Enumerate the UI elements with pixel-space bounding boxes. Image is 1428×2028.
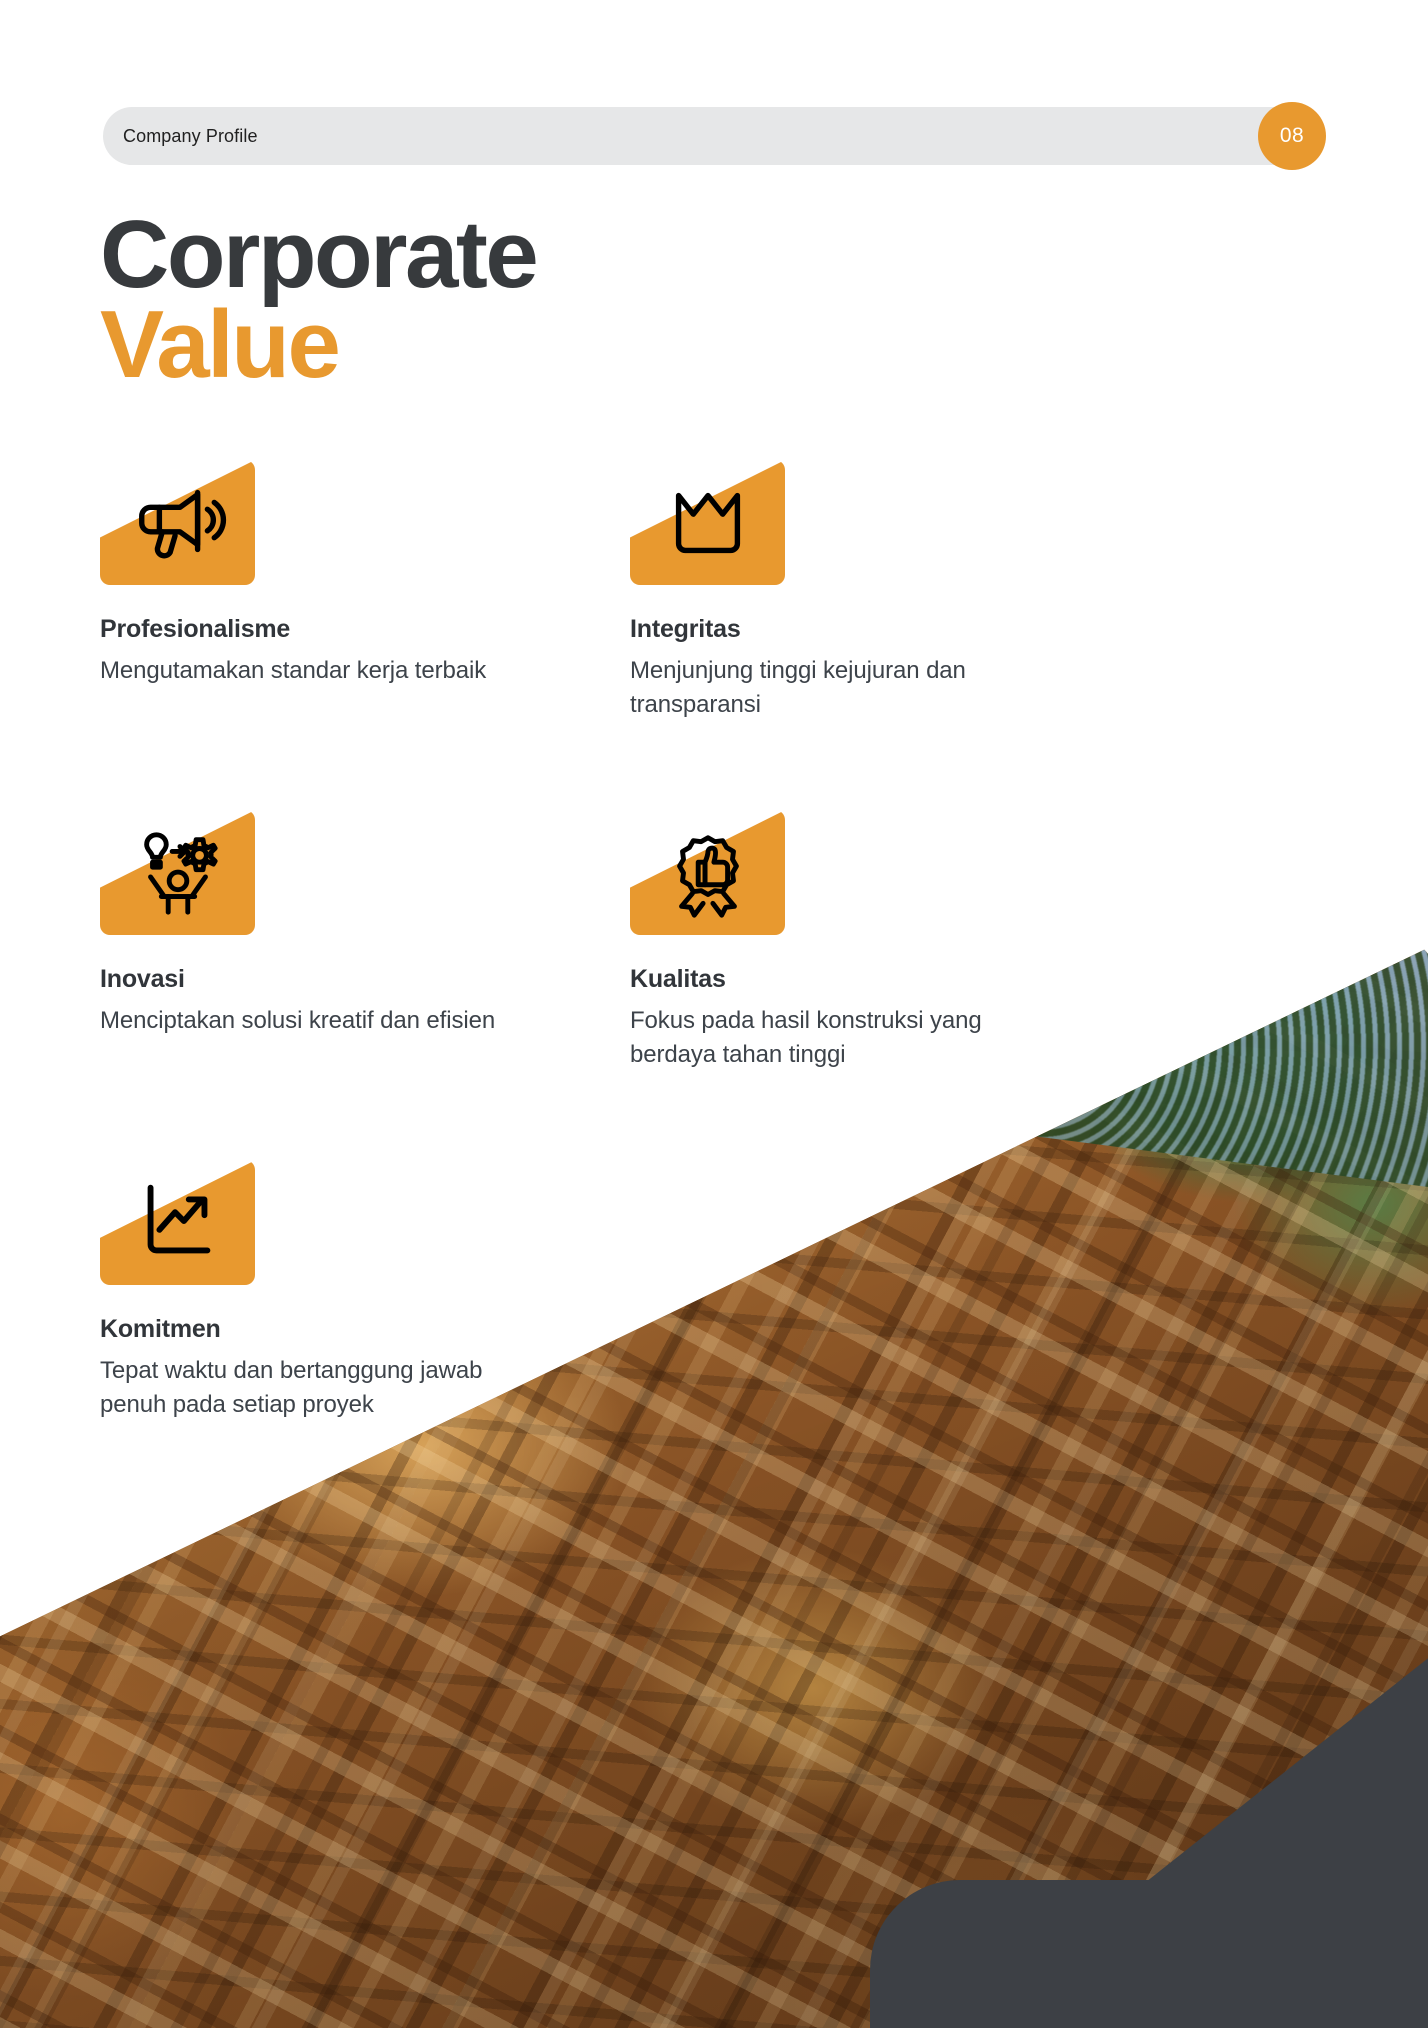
- value-item-inovasi: Inovasi Menciptakan solusi kreatif dan e…: [100, 810, 630, 1072]
- header-pill: [103, 107, 1304, 165]
- quality-badge-thumbsup-icon: [659, 824, 757, 922]
- values-row: Profesionalisme Mengutamakan standar ker…: [100, 460, 1100, 722]
- icon-tile: [630, 460, 785, 585]
- innovation-idea-gear-icon: [129, 824, 227, 922]
- value-title: Profesionalisme: [100, 615, 630, 644]
- megaphone-icon: [129, 474, 227, 572]
- header-bar: Company Profile: [103, 107, 1303, 165]
- icon-tile: [100, 810, 255, 935]
- row-spacer: [100, 1072, 1100, 1160]
- page-title: Corporate Value: [100, 210, 1000, 390]
- value-title: Inovasi: [100, 965, 630, 994]
- slide-page: Company Profile 08 Corporate Value: [0, 0, 1428, 2028]
- value-item-integritas: Integritas Menjunjung tinggi kejujuran d…: [630, 460, 1100, 722]
- title-line-primary: Corporate: [100, 210, 1000, 300]
- value-title: Integritas: [630, 615, 1100, 644]
- value-description: Fokus pada hasil konstruksi yang berdaya…: [630, 1004, 1060, 1072]
- crown-icon: [659, 474, 757, 572]
- value-description: Menjunjung tinggi kejujuran dan transpar…: [630, 654, 1060, 722]
- page-number-badge: 08: [1258, 102, 1326, 170]
- value-description: Menciptakan solusi kreatif dan efisien: [100, 1004, 530, 1038]
- row-spacer: [100, 722, 1100, 810]
- growth-chart-arrow-icon: [129, 1174, 227, 1272]
- dark-corner-shape-base: [870, 1880, 1428, 2028]
- title-line-accent: Value: [100, 300, 1000, 390]
- value-item-kualitas: Kualitas Fokus pada hasil konstruksi yan…: [630, 810, 1100, 1072]
- icon-tile: [100, 460, 255, 585]
- icon-tile: [630, 810, 785, 935]
- header-label: Company Profile: [123, 107, 258, 165]
- value-title: Komitmen: [100, 1315, 630, 1344]
- icon-tile: [100, 1160, 255, 1285]
- value-item-profesionalisme: Profesionalisme Mengutamakan standar ker…: [100, 460, 630, 722]
- values-row: Inovasi Menciptakan solusi kreatif dan e…: [100, 810, 1100, 1072]
- value-title: Kualitas: [630, 965, 1100, 994]
- value-description: Mengutamakan standar kerja terbaik: [100, 654, 530, 688]
